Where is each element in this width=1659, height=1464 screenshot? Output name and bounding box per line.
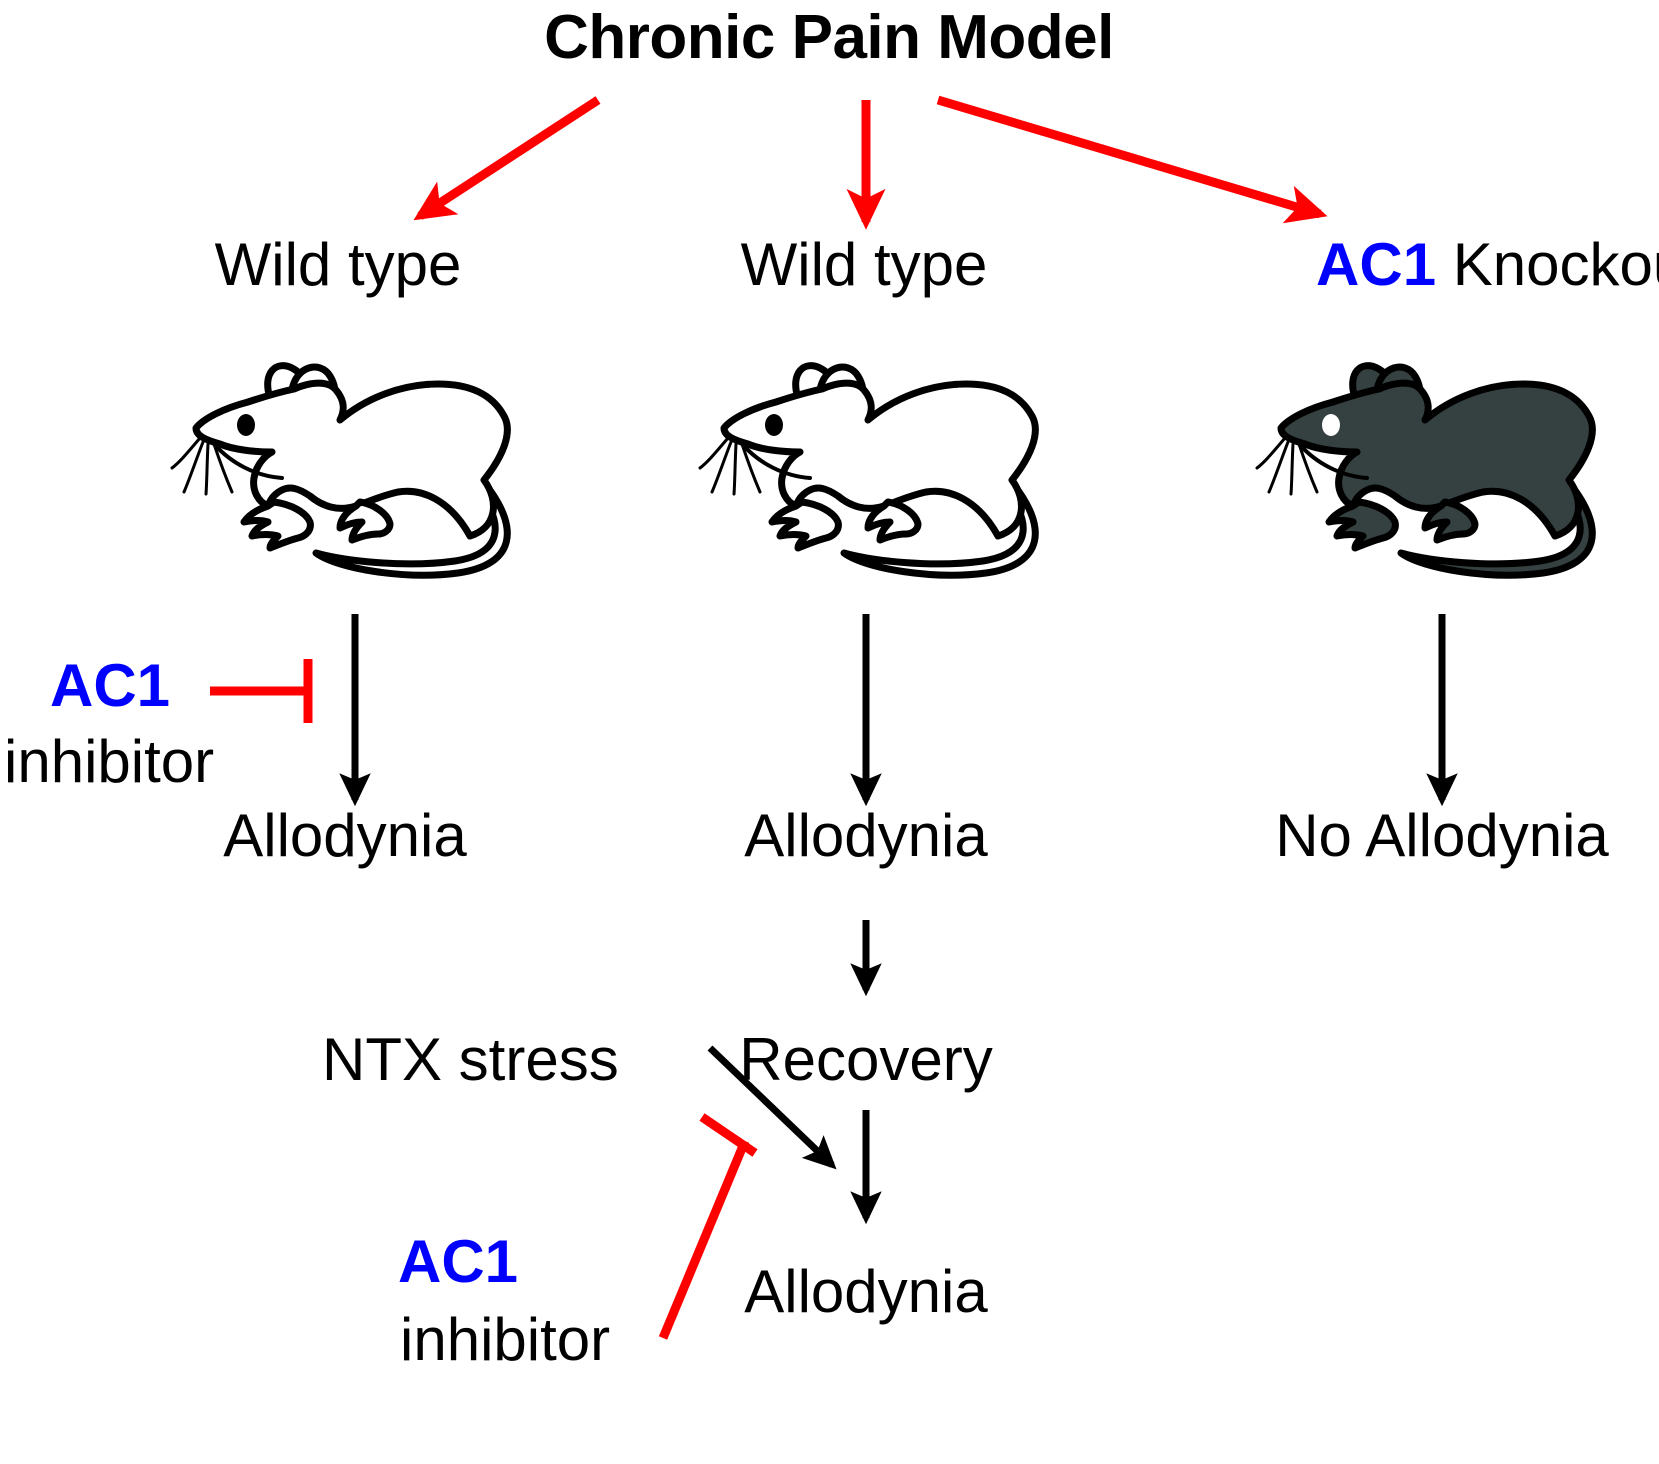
mouse-dark-knockout: [1257, 366, 1592, 576]
branch-arrow-right: [938, 100, 1320, 214]
label-ac1-left-gene: AC1: [50, 652, 170, 719]
label-ac1-gene: AC1: [1316, 231, 1436, 298]
label-allodynia-bottom: Allodynia: [744, 1258, 988, 1325]
label-wild-type-left: Wild type: [215, 231, 462, 298]
label-recovery: Recovery: [739, 1026, 992, 1093]
branch-arrows-group: [420, 100, 1320, 222]
label-inhibitor-left: inhibitor: [4, 728, 214, 795]
label-ntx-stress: NTX stress: [322, 1026, 619, 1093]
label-wild-type-center: Wild type: [741, 231, 988, 298]
mouse-front-paw: [244, 502, 310, 548]
figure-canvas: Chronic Pain Model Wild type Wild type A…: [0, 0, 1659, 1464]
label-inhibitor-bottom: inhibitor: [400, 1306, 610, 1373]
chronic-pain-model-diagram: Chronic Pain Model Wild type Wild type A…: [0, 0, 1659, 1464]
mouse-front-paw: [1329, 502, 1395, 548]
branch-arrow-left: [420, 100, 598, 216]
mouse-white-center: [700, 366, 1035, 576]
mouse-eye: [765, 414, 783, 436]
mouse-white-left: [172, 366, 507, 576]
mouse-front-paw: [772, 502, 838, 548]
inhibition-bar-bottom: [663, 1117, 755, 1338]
mouse-hind-paw: [340, 502, 390, 540]
mouse-hind-paw: [868, 502, 918, 540]
label-allodynia-center: Allodynia: [744, 802, 988, 869]
label-allodynia-left: Allodynia: [223, 802, 467, 869]
label-ac1-knockout: AC1 Knockout: [1166, 231, 1659, 298]
label-no-allodynia-right: No Allodynia: [1275, 802, 1609, 869]
mouse-eye: [1322, 414, 1340, 436]
label-knockout-word: Knockout: [1436, 231, 1659, 298]
mouse-hind-paw: [1425, 502, 1475, 540]
svg-text:AC1 Knockout: AC1 Knockout: [1166, 231, 1659, 298]
page-title: Chronic Pain Model: [544, 3, 1114, 72]
inhibition-bar-left: [210, 659, 310, 723]
mouse-eye: [237, 414, 255, 436]
label-ac1-bottom-gene: AC1: [398, 1228, 518, 1295]
